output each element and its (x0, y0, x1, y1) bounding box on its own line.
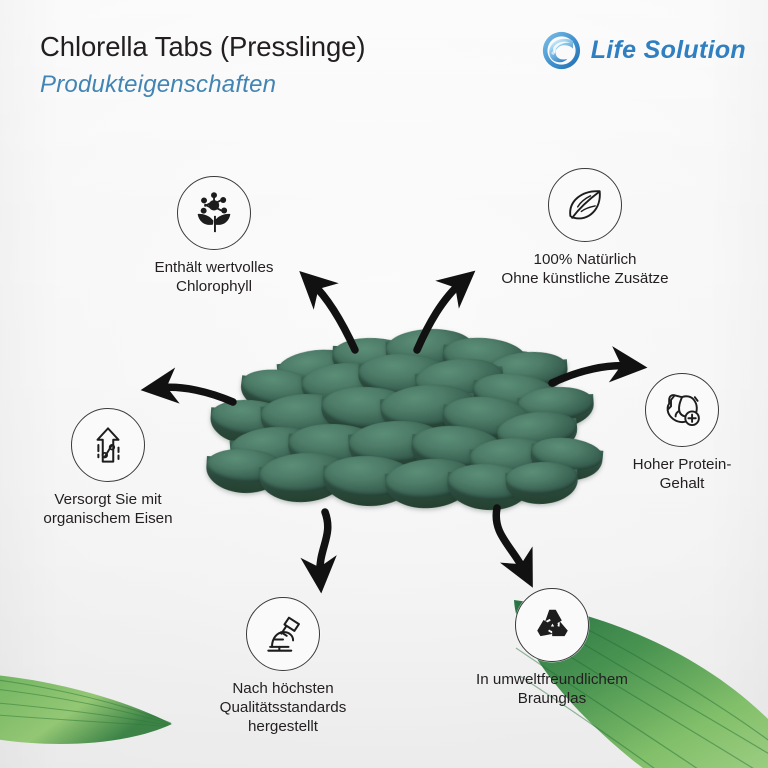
brand-logo: Life Solution (541, 30, 746, 71)
wave-circle-icon (541, 30, 582, 71)
infographic-canvas: Chlorella Tabs (Presslinge) Produkteigen… (0, 0, 768, 768)
feature-glass-badge (515, 588, 589, 662)
leaf-outline-icon (563, 183, 607, 227)
feature-glass[interactable]: In umweltfreundlichem Braunglas (437, 588, 667, 709)
feature-chlorophyll-label: Enthält wertvolles Chlorophyll (154, 259, 273, 297)
feature-glass-label: In umweltfreundlichem Braunglas (427, 671, 677, 709)
chlorella-tablets-pile (222, 326, 592, 526)
muscle-arm-plus-icon (660, 388, 704, 432)
recycling-icon (531, 604, 574, 647)
feature-protein[interactable]: Hoher Protein- Gehalt (567, 373, 768, 494)
feature-iron[interactable]: Versorgt Sie mit organischem Eisen (0, 408, 223, 529)
feature-quality[interactable]: Nach höchsten Qualitätsstandards hergest… (168, 597, 398, 737)
feature-chlorophyll[interactable]: Enthält wertvolles Chlorophyll (99, 176, 329, 297)
feature-iron-badge (71, 408, 145, 482)
feature-iron-label: Versorgt Sie mit organischem Eisen (43, 491, 172, 529)
feature-natural[interactable]: 100% Natürlich Ohne künstliche Zusätze (470, 168, 700, 289)
page-subtitle: Produkteigenschaften (40, 72, 365, 98)
header-block: Chlorella Tabs (Presslinge) Produkteigen… (40, 32, 365, 99)
feature-quality-badge (246, 597, 320, 671)
microscope-icon (261, 612, 305, 656)
molecule-plant-icon (191, 190, 237, 236)
feature-protein-badge (645, 373, 719, 447)
feature-natural-label: 100% Natürlich Ohne künstliche Zusätze (460, 251, 710, 289)
feature-protein-label: Hoher Protein- Gehalt (633, 456, 732, 494)
feature-quality-label: Nach höchsten Qualitätsstandards hergest… (220, 680, 347, 737)
brand-name: Life Solution (591, 36, 746, 65)
arrow-up-percent-icon (87, 424, 129, 466)
page-title: Chlorella Tabs (Presslinge) (40, 32, 365, 62)
feature-natural-badge (548, 168, 622, 242)
feature-chlorophyll-badge (177, 176, 251, 250)
